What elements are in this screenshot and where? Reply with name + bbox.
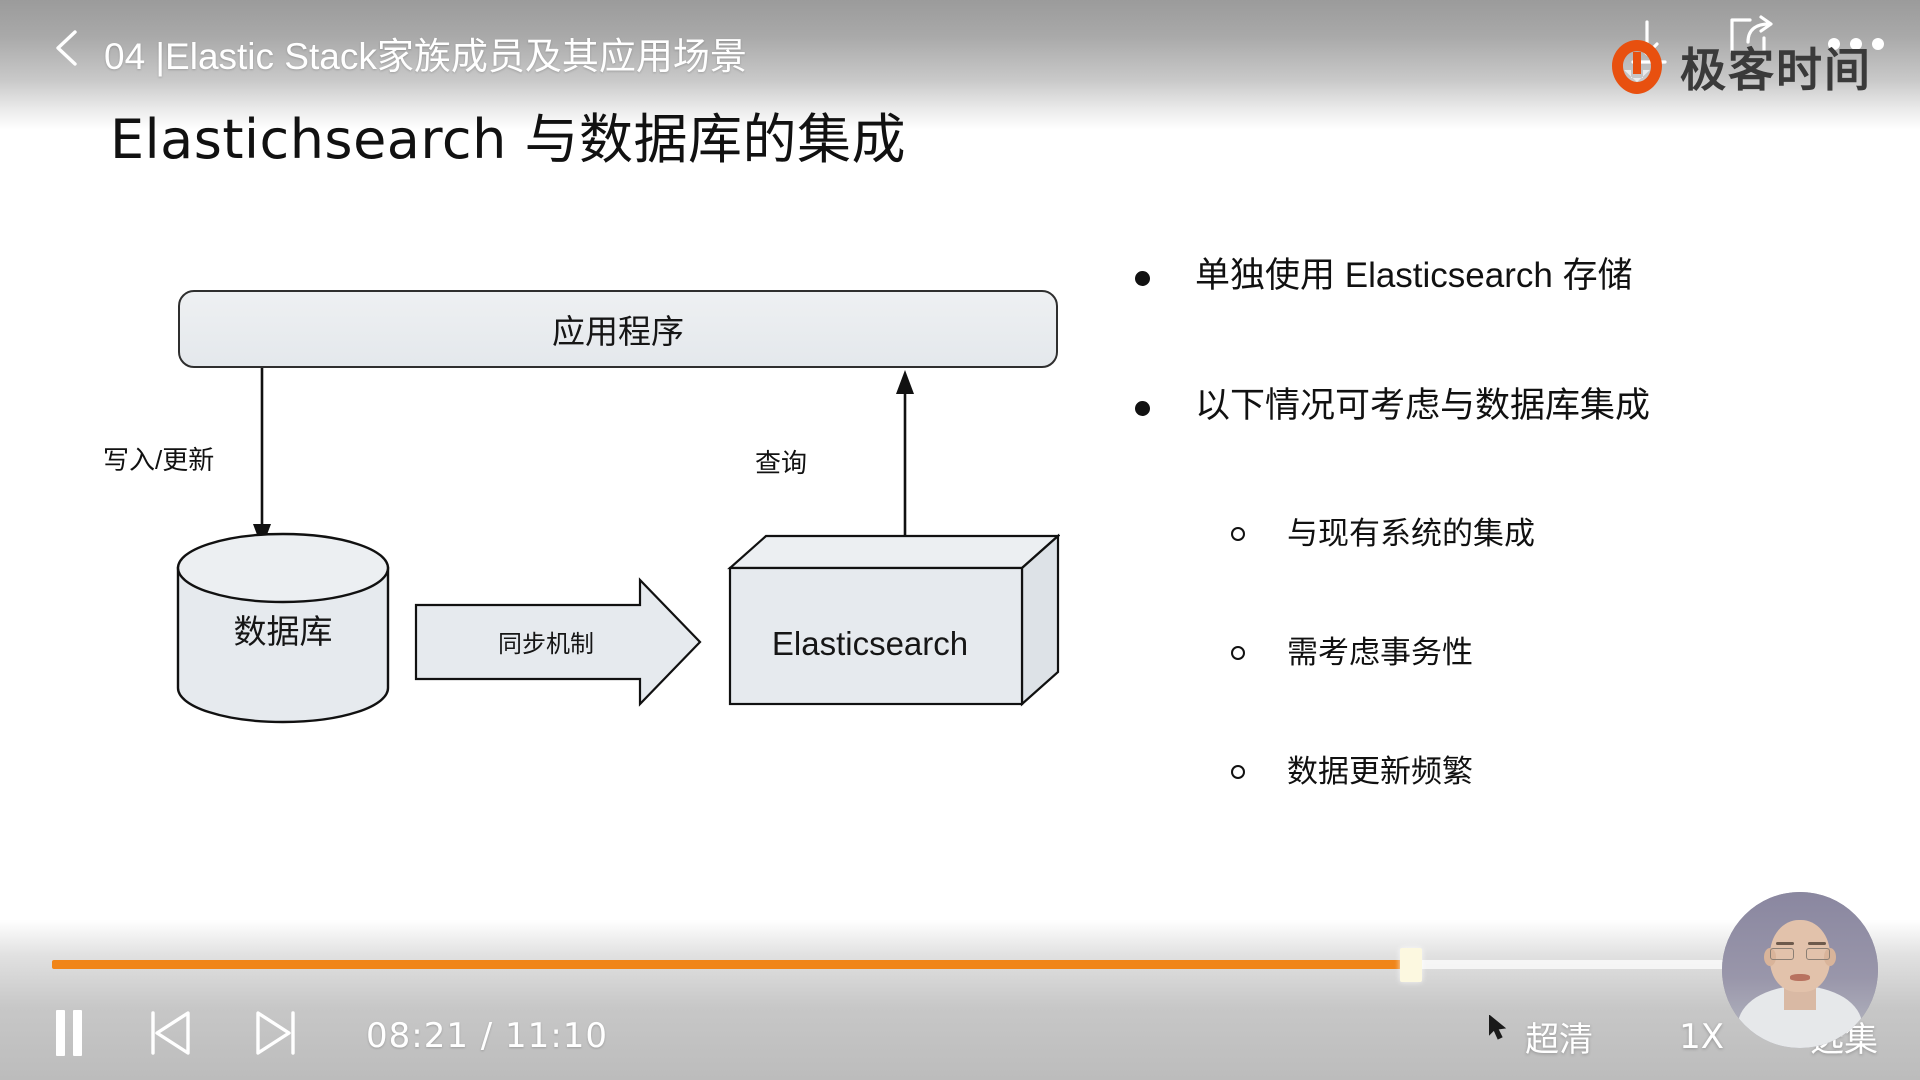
pause-button[interactable] bbox=[52, 1008, 86, 1063]
brand-name: 极客时间 bbox=[1680, 34, 1872, 100]
diagram-node-application: 应用程序 bbox=[178, 290, 1058, 368]
list-item: 单独使用 Elasticsearch 存储 bbox=[1135, 255, 1875, 297]
bullet-circle-icon bbox=[1231, 765, 1245, 779]
list-item-label: 数据更新频繁 bbox=[1287, 753, 1473, 790]
list-item-label: 以下情况可考虑与数据库集成 bbox=[1195, 385, 1650, 427]
player-control-bar: 08:21 / 11:10 超清 1X 选集 bbox=[0, 920, 1920, 1080]
bullet-sublist: 与现有系统的集成 需考虑事务性 数据更新频繁 bbox=[1231, 515, 1875, 791]
pause-icon bbox=[52, 1008, 86, 1058]
more-dots-icon bbox=[1872, 38, 1884, 50]
geektime-mark-icon bbox=[1604, 34, 1670, 100]
chevron-left-icon bbox=[52, 28, 82, 68]
glasses-lens-left bbox=[1770, 948, 1794, 960]
back-button[interactable] bbox=[52, 28, 82, 68]
diagram-edge-label-sync: 同步机制 bbox=[466, 624, 626, 659]
list-item-label: 与现有系统的集成 bbox=[1287, 515, 1535, 552]
list-item-label: 单独使用 Elasticsearch 存储 bbox=[1195, 255, 1633, 297]
presenter-webcam-overlay bbox=[1722, 892, 1878, 1048]
video-player-stage: 04 |Elastic Stack家族成员及其应用场景 bbox=[0, 0, 1920, 1080]
next-track-icon bbox=[254, 1009, 298, 1057]
previous-button[interactable] bbox=[148, 1009, 192, 1062]
bullet-circle-icon bbox=[1231, 527, 1245, 541]
bullet-list: 单独使用 Elasticsearch 存储 以下情况可考虑与数据库集成 与现有系… bbox=[1135, 255, 1875, 791]
next-button[interactable] bbox=[254, 1009, 298, 1062]
architecture-diagram: 应用程序 写入/更新 查询 数据库 同步机制 Elasticsearch bbox=[0, 150, 1060, 790]
progress-bar-fill bbox=[52, 960, 1403, 969]
diagram-node-database-label: 数据库 bbox=[178, 605, 388, 653]
quality-selector[interactable]: 超清 bbox=[1525, 1012, 1593, 1061]
webcam-brow-left bbox=[1776, 942, 1794, 945]
webcam-brow-right bbox=[1808, 942, 1826, 945]
nav-title: 04 |Elastic Stack家族成员及其应用场景 bbox=[104, 26, 747, 80]
diagram-edge-label-write: 写入/更新 bbox=[103, 440, 214, 477]
glasses-lens-right bbox=[1806, 948, 1830, 960]
list-item: 需考虑事务性 bbox=[1231, 634, 1875, 671]
webcam-mouth bbox=[1790, 974, 1810, 981]
list-item-label: 需考虑事务性 bbox=[1287, 634, 1473, 671]
playback-speed-selector[interactable]: 1X bbox=[1679, 1017, 1724, 1057]
previous-track-icon bbox=[148, 1009, 192, 1057]
progress-bar-handle[interactable] bbox=[1400, 948, 1422, 982]
webcam-glasses bbox=[1770, 948, 1830, 960]
brand-logo: 极客时间 bbox=[1604, 34, 1872, 100]
bullet-dot-icon bbox=[1135, 401, 1150, 416]
diagram-node-elasticsearch-label: Elasticsearch bbox=[730, 625, 1010, 663]
list-item: 数据更新频繁 bbox=[1231, 753, 1875, 790]
bullet-dot-icon bbox=[1135, 271, 1150, 286]
progress-bar[interactable] bbox=[52, 960, 1865, 969]
diagram-edge-label-query: 查询 bbox=[755, 443, 807, 480]
list-item: 以下情况可考虑与数据库集成 bbox=[1135, 385, 1875, 427]
playback-controls: 08:21 / 11:10 bbox=[52, 1008, 608, 1063]
diagram-node-application-label: 应用程序 bbox=[552, 305, 684, 353]
bullet-circle-icon bbox=[1231, 646, 1245, 660]
time-display: 08:21 / 11:10 bbox=[366, 1016, 608, 1056]
list-item: 与现有系统的集成 bbox=[1231, 515, 1875, 552]
